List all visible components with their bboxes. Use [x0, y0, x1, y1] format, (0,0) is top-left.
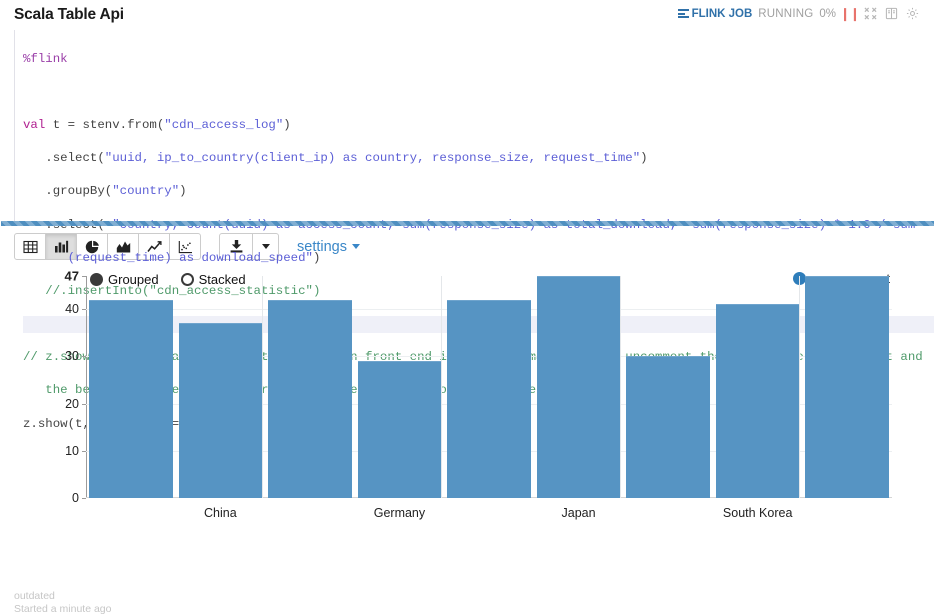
y-tick-label: 30	[65, 349, 79, 363]
bar[interactable]	[626, 356, 710, 498]
y-tick-label: 10	[65, 444, 79, 458]
x-tick-label: China	[204, 506, 237, 520]
job-bars-icon	[678, 9, 689, 18]
bar[interactable]	[89, 300, 173, 498]
collapse-icon[interactable]	[863, 6, 878, 21]
y-tick-label: 0	[72, 491, 79, 505]
paragraph-footer: outdated Started a minute ago	[14, 590, 111, 616]
vertical-gridline	[262, 276, 263, 498]
bar[interactable]	[537, 276, 621, 498]
paragraph-started-time: Started a minute ago	[14, 603, 111, 616]
book-icon[interactable]	[884, 6, 899, 21]
code-line: %flink	[23, 51, 934, 68]
plot-canvas: 01020304047	[86, 276, 892, 498]
y-tick-mark	[82, 451, 86, 452]
code-line: .groupBy("country")	[23, 183, 934, 200]
paragraph-header: Scala Table Api FLINK JOB RUNNING 0% ❙❙	[0, 0, 934, 30]
code-line	[23, 84, 934, 101]
bar[interactable]	[358, 361, 442, 498]
pause-icon[interactable]: ❙❙	[842, 6, 857, 21]
y-tick-label: 40	[65, 302, 79, 316]
bar[interactable]	[447, 300, 531, 498]
x-tick-label: South Korea	[723, 506, 793, 520]
y-tick-mark	[82, 309, 86, 310]
flink-job-link[interactable]: FLINK JOB	[678, 7, 753, 21]
x-tick-label: Japan	[562, 506, 596, 520]
bar[interactable]	[805, 276, 889, 498]
vertical-gridline	[799, 276, 800, 498]
y-tick-mark	[82, 276, 86, 277]
vertical-gridline	[620, 276, 621, 498]
x-axis-labels: ChinaGermanyJapanSouth Korea	[86, 506, 892, 524]
code-line: .select("uuid, ip_to_country(client_ip) …	[23, 150, 934, 167]
code-line-text: %flink	[23, 52, 68, 66]
y-tick-label: 47	[65, 269, 79, 284]
gear-icon[interactable]	[905, 6, 920, 21]
paragraph-state: outdated	[14, 590, 111, 603]
y-tick-mark	[82, 404, 86, 405]
chart-area: Grouped Stacked access_count 01020304047…	[0, 268, 934, 548]
status-badge: RUNNING	[758, 7, 813, 21]
paragraph-status-bar: FLINK JOB RUNNING 0% ❙❙	[678, 6, 920, 21]
bar[interactable]	[716, 304, 800, 498]
vertical-gridline	[441, 276, 442, 498]
y-tick-mark	[82, 356, 86, 357]
job-progress-bar	[1, 221, 934, 226]
y-tick-label: 20	[65, 397, 79, 411]
page-title: Scala Table Api	[14, 6, 124, 24]
bar[interactable]	[268, 300, 352, 498]
bar[interactable]	[179, 323, 263, 498]
flink-job-label: FLINK JOB	[692, 7, 753, 21]
code-editor[interactable]: %flink val t = stenv.from("cdn_access_lo…	[14, 30, 934, 226]
y-tick-mark	[82, 498, 86, 499]
x-tick-label: Germany	[374, 506, 425, 520]
code-line: (request_time) as download_speed")	[23, 250, 934, 267]
code-line: val t = stenv.from("cdn_access_log")	[23, 117, 934, 134]
progress-percent: 0%	[819, 7, 836, 21]
